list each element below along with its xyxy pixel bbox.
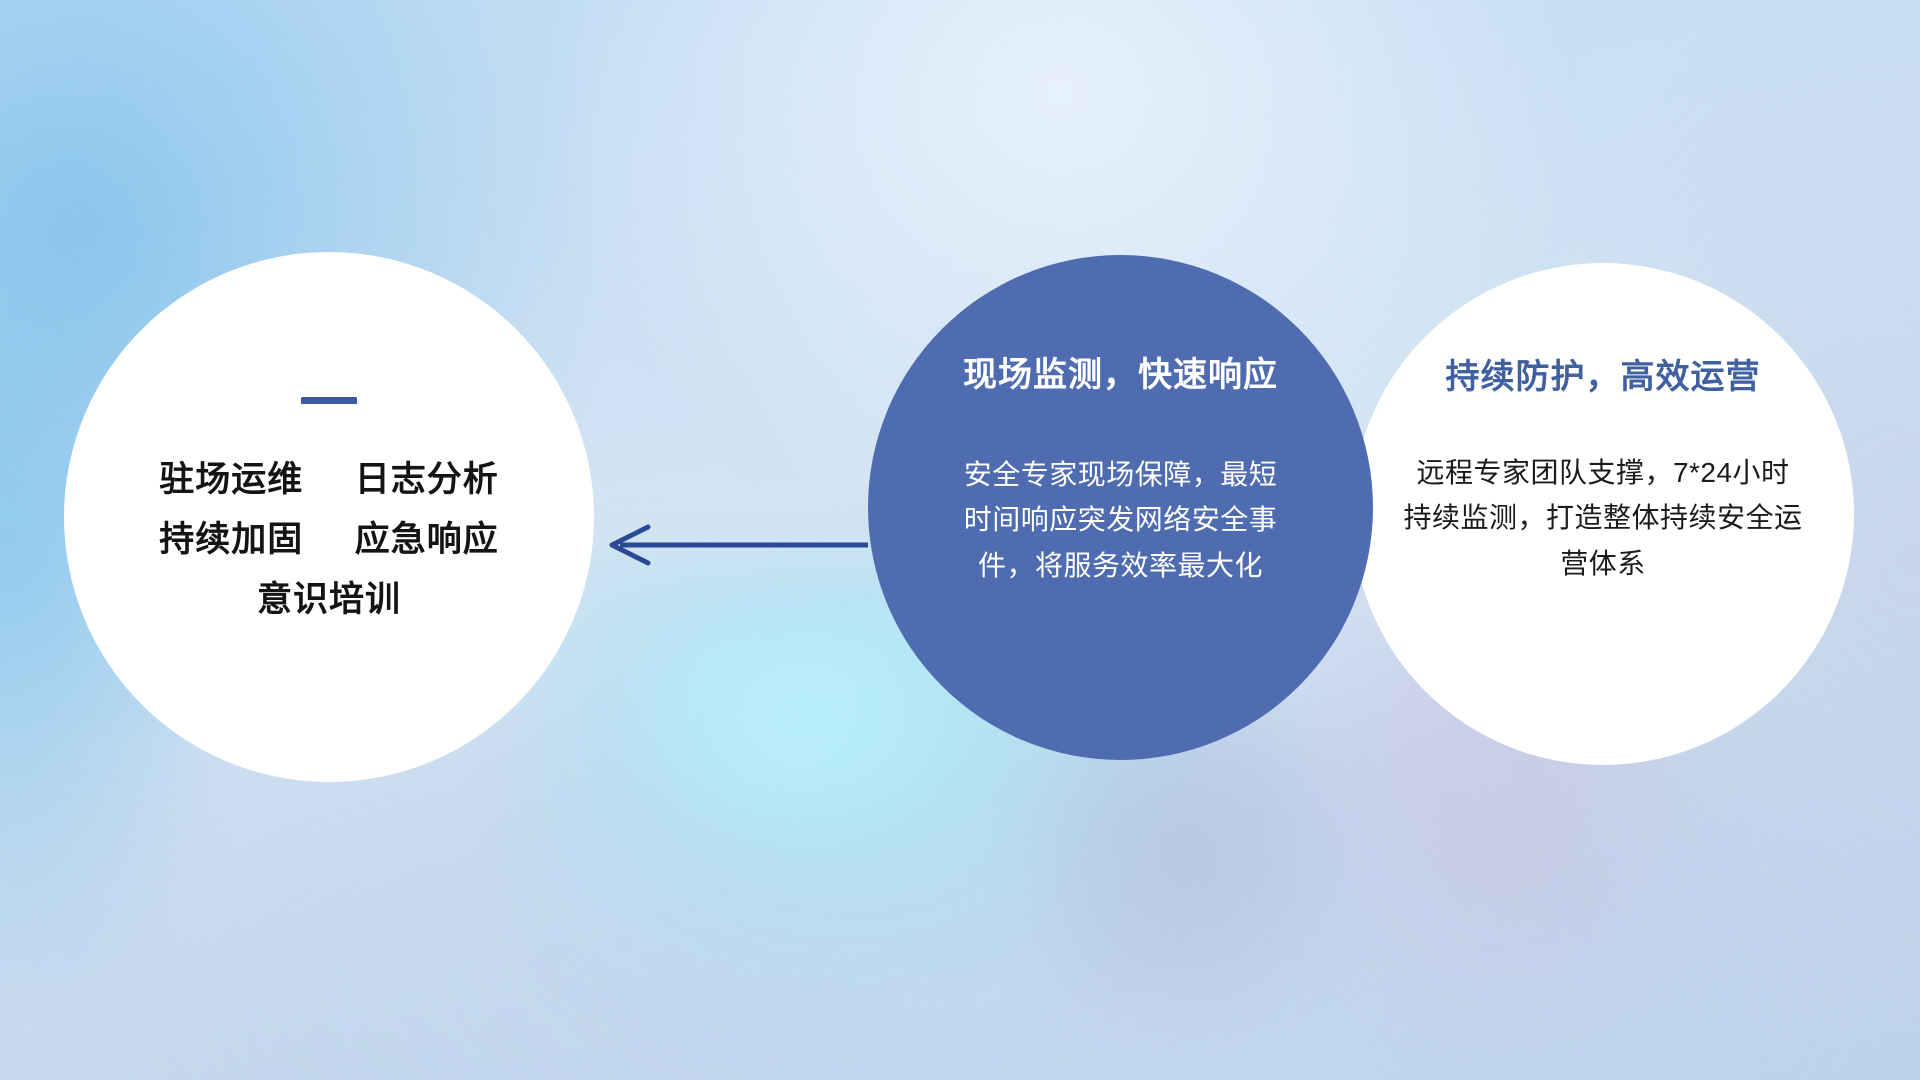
keyword-onsite-ops: 驻场运维 (159, 460, 303, 499)
onsite-circle-title: 现场监测，快速响应 (963, 347, 1278, 396)
continuous-circle-body: 远程专家团队支撑，7*24小时持续监测，打造整体持续安全运营体系 (1403, 450, 1803, 586)
keyword-log-analysis: 日志分析 (355, 460, 499, 499)
keyword-awareness-training: 意识培训 (257, 580, 401, 619)
slide-canvas: 驻场运维 日志分析 持续加固 应急响应 意识培训 现场监测，快速响应 安全专家现… (0, 0, 1920, 1080)
divider-dash (301, 397, 357, 404)
keyword-row: 意识培训 (159, 570, 499, 630)
keyword-row: 持续加固 应急响应 (159, 510, 499, 570)
capability-keyword-list: 驻场运维 日志分析 持续加固 应急响应 意识培训 (159, 450, 499, 631)
onsite-monitoring-circle[interactable]: 现场监测，快速响应 安全专家现场保障，最短时间响应突发网络安全事件，将服务效率最… (868, 255, 1373, 760)
continuous-circle-title: 持续防护，高效运营 (1446, 349, 1761, 398)
continuous-operations-circle[interactable]: 持续防护，高效运营 远程专家团队支撑，7*24小时持续监测，打造整体持续安全运营… (1352, 263, 1854, 765)
onsite-circle-body: 安全专家现场保障，最短时间响应突发网络安全事件，将服务效率最大化 (956, 452, 1286, 588)
keyword-incident-response: 应急响应 (355, 520, 499, 559)
capabilities-circle[interactable]: 驻场运维 日志分析 持续加固 应急响应 意识培训 (64, 252, 594, 782)
keyword-row: 驻场运维 日志分析 (159, 450, 499, 510)
keyword-hardening: 持续加固 (159, 520, 303, 559)
